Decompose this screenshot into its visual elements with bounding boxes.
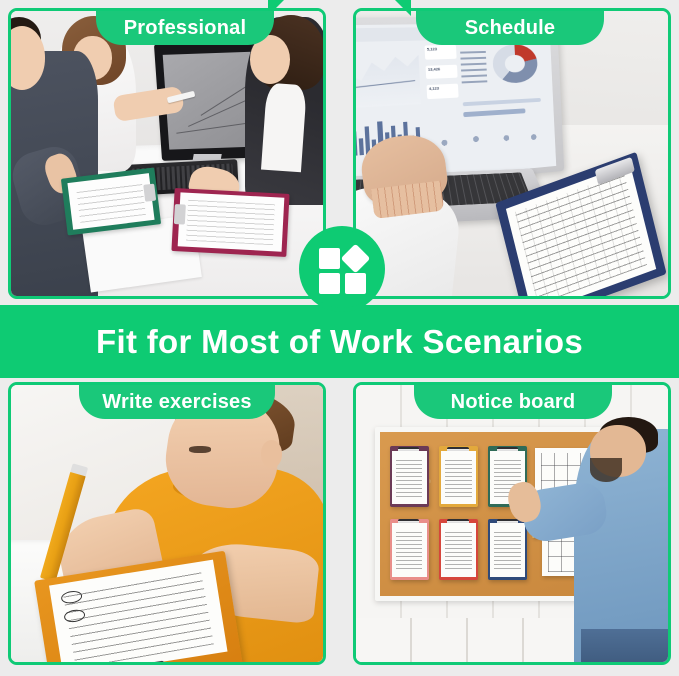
logo-square-top-left: [319, 248, 340, 269]
woman-colleague: [245, 17, 323, 205]
clipboard-sheet: [49, 560, 228, 662]
clipboard-clip: [144, 184, 156, 202]
photo-notice-board: [356, 385, 668, 662]
kpi-value: 5,123: [425, 44, 456, 52]
logo-square-bottom-right: [345, 273, 366, 294]
kpi-card-2: 13,426: [426, 64, 457, 79]
kpi-card-1: 5,123: [425, 44, 457, 59]
banner-notch-right: [395, 0, 411, 16]
jeans: [581, 629, 668, 662]
clipboard-page: [441, 523, 476, 577]
clipboard-purple: [390, 446, 429, 507]
photo-boy-writing: [11, 385, 323, 662]
panel-notice-board: Notice board: [353, 382, 671, 665]
page-text: [494, 530, 520, 569]
clipboard-red: [439, 519, 478, 580]
clipboard-clip: [174, 204, 185, 225]
clipboard-green: [61, 168, 161, 236]
brand-logo-badge: [303, 230, 381, 308]
progress-bar-2: [463, 108, 525, 116]
handwritten-schedule: [515, 173, 647, 296]
page-text: [445, 458, 471, 497]
handwritten-alphabet: [63, 568, 214, 662]
clipboard-pink: [390, 519, 429, 580]
label-schedule: Schedule: [416, 11, 604, 45]
clipboard-page: [392, 451, 427, 505]
page-text: [396, 458, 422, 497]
clipboard-orange: [439, 446, 478, 507]
flow-diagram: [429, 126, 547, 165]
panel-professional: Professional: [8, 8, 326, 299]
marketing-image: Professional 5,123: [0, 0, 679, 676]
page-text: [445, 530, 471, 569]
clipboard-navy: [488, 519, 527, 580]
headline-banner: Fit for Most of Work Scenarios: [0, 305, 679, 378]
label-notice-board: Notice board: [414, 385, 612, 419]
clipboard-page: [490, 523, 525, 577]
panel-write-exercises: Write exercises: [8, 382, 326, 665]
progress-bar-1: [463, 97, 541, 106]
kpi-card-3: 4,123: [427, 84, 458, 99]
panel-schedule: 5,123 13,426 4,123: [353, 8, 671, 299]
clipboard-page: [392, 523, 427, 577]
legend-list: [460, 47, 487, 84]
headline-text: Fit for Most of Work Scenarios: [96, 323, 583, 361]
area-chart: [356, 42, 421, 108]
beard: [590, 458, 621, 482]
clipboard-page: [441, 451, 476, 505]
logo-square-bottom-left: [319, 273, 340, 294]
clipboard-maroon: [172, 188, 291, 257]
donut-chart: [492, 44, 538, 84]
boy-eye: [189, 446, 211, 453]
photo-office-meeting: [11, 11, 323, 296]
blouse: [261, 83, 307, 172]
clipboard-page: [67, 173, 155, 231]
man-pinning-document: [574, 429, 668, 662]
kpi-value: 4,123: [427, 84, 458, 92]
kpi-value: 13,426: [426, 64, 457, 72]
label-write-exercises: Write exercises: [79, 385, 275, 419]
label-professional: Professional: [96, 11, 274, 45]
clipboard-page: [178, 192, 285, 251]
photo-laptop-dashboard: 5,123 13,426 4,123: [356, 11, 668, 296]
man-in-suit: [11, 51, 98, 296]
logo-diamond-top-right: [341, 244, 371, 274]
page-text: [396, 530, 422, 569]
